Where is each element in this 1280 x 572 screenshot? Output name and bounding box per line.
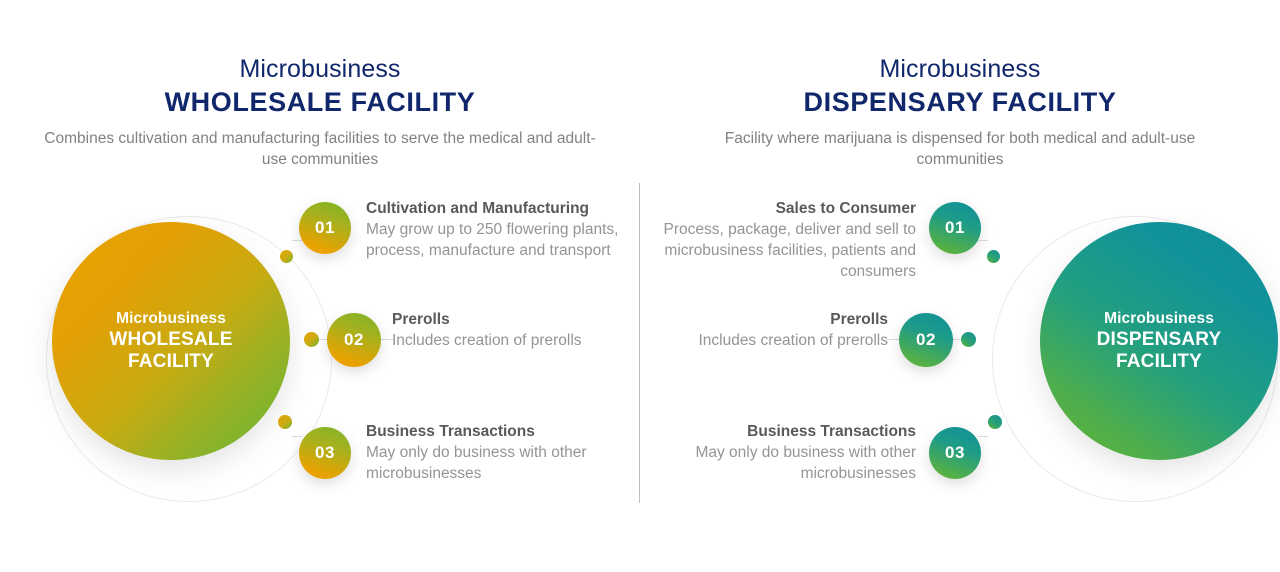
right-circle-wrap: Microbusiness DISPENSARY FACILITY xyxy=(984,216,1280,516)
left-subtitle: Combines cultivation and manufacturing f… xyxy=(40,128,600,170)
right-badge-01[interactable]: 01 xyxy=(929,202,981,254)
right-subtitle: Facility where marijuana is dispensed fo… xyxy=(680,128,1240,170)
right-heading-block: Microbusiness DISPENSARY FACILITY Facili… xyxy=(680,54,1240,170)
left-item-01-desc: May grow up to 250 flowering plants, pro… xyxy=(366,219,634,261)
left-circle-wrap: Microbusiness WHOLESALE FACILITY xyxy=(46,216,346,516)
left-connector-dot-02 xyxy=(304,332,319,347)
right-circle-label-1: Microbusiness xyxy=(1104,309,1214,329)
infographic-canvas: Microbusiness WHOLESALE FACILITY Combine… xyxy=(0,0,1280,572)
left-badge-03[interactable]: 03 xyxy=(299,427,351,479)
right-item-01-title: Sales to Consumer xyxy=(646,198,916,219)
panel-dispensary-facility: Microbusiness DISPENSARY FACILITY Facili… xyxy=(640,0,1280,572)
left-main-circle: Microbusiness WHOLESALE FACILITY xyxy=(52,222,290,460)
left-circle-label-2: WHOLESALE xyxy=(109,329,232,351)
right-item-02-title: Prerolls xyxy=(646,309,888,330)
right-main-circle: Microbusiness DISPENSARY FACILITY xyxy=(1040,222,1278,460)
left-item-01-title: Cultivation and Manufacturing xyxy=(366,198,634,219)
right-connector-dot-01 xyxy=(987,250,1000,263)
right-connector-dot-03 xyxy=(988,415,1002,429)
left-item-03-title: Business Transactions xyxy=(366,421,616,442)
left-stub-03 xyxy=(292,436,302,437)
left-item-02-desc: Includes creation of prerolls xyxy=(392,330,640,351)
right-heading-line2: DISPENSARY FACILITY xyxy=(680,86,1240,118)
right-item-03-title: Business Transactions xyxy=(666,421,916,442)
left-item-02-title: Prerolls xyxy=(392,309,640,330)
right-stub-03 xyxy=(978,436,988,437)
left-item-03-desc: May only do business with other microbus… xyxy=(366,442,616,484)
left-item-02-text: Prerolls Includes creation of prerolls xyxy=(392,309,640,351)
left-circle-label-1: Microbusiness xyxy=(116,309,226,329)
left-item-03-text: Business Transactions May only do busine… xyxy=(366,421,616,484)
right-badge-02[interactable]: 02 xyxy=(899,313,953,367)
right-badge-03[interactable]: 03 xyxy=(929,427,981,479)
right-stub-02b xyxy=(887,339,899,340)
left-connector-dot-03 xyxy=(278,415,292,429)
right-circle-label-3: FACILITY xyxy=(1116,351,1202,373)
right-heading-line1: Microbusiness xyxy=(680,54,1240,84)
right-item-01-text: Sales to Consumer Process, package, deli… xyxy=(646,198,916,282)
right-connector-dot-02 xyxy=(961,332,976,347)
panel-wholesale-facility: Microbusiness WHOLESALE FACILITY Combine… xyxy=(0,0,640,572)
right-item-01-desc: Process, package, deliver and sell to mi… xyxy=(646,219,916,282)
left-heading-block: Microbusiness WHOLESALE FACILITY Combine… xyxy=(40,54,600,170)
left-connector-dot-01 xyxy=(280,250,293,263)
left-item-01-text: Cultivation and Manufacturing May grow u… xyxy=(366,198,634,261)
right-item-02-desc: Includes creation of prerolls xyxy=(646,330,888,351)
left-badge-01[interactable]: 01 xyxy=(299,202,351,254)
right-item-03-desc: May only do business with other microbus… xyxy=(666,442,916,484)
right-item-02-text: Prerolls Includes creation of prerolls xyxy=(646,309,888,351)
right-circle-label-2: DISPENSARY xyxy=(1097,329,1222,351)
left-heading-line2: WHOLESALE FACILITY xyxy=(40,86,600,118)
left-badge-02[interactable]: 02 xyxy=(327,313,381,367)
left-heading-line1: Microbusiness xyxy=(40,54,600,84)
right-item-03-text: Business Transactions May only do busine… xyxy=(666,421,916,484)
left-circle-label-3: FACILITY xyxy=(128,351,214,373)
